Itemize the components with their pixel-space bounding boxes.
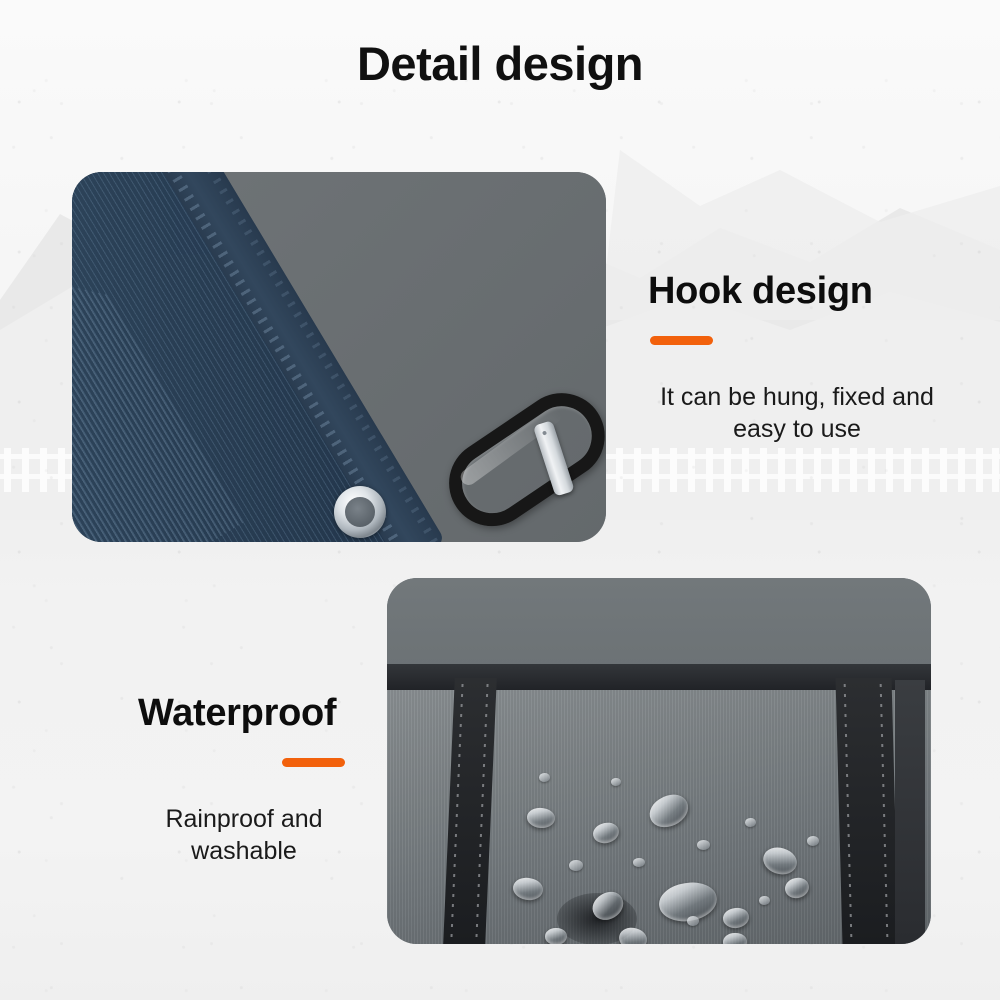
waterproof-description: Rainproof and washable: [138, 803, 350, 867]
water-droplet-small: [569, 860, 583, 871]
metal-grommet-icon: [334, 486, 386, 538]
hook-design-photo: [72, 172, 606, 542]
waterproof-image-card[interactable]: [387, 578, 931, 944]
hook-design-description: It can be hung, fixed and easy to use: [646, 381, 948, 445]
waterproof-heading: Waterproof: [138, 692, 350, 736]
water-droplet-small: [759, 896, 770, 905]
hook-design-text-block: Hook design It can be hung, fixed and ea…: [648, 270, 948, 445]
hook-design-image-card[interactable]: [72, 172, 606, 542]
water-droplet-small: [697, 840, 710, 850]
fabric-binding-right-outer: [895, 680, 925, 944]
waterproof-photo: [387, 578, 931, 944]
water-droplet-small: [687, 916, 699, 926]
accent-divider-hook: [650, 336, 713, 345]
fabric-binding-right: [836, 678, 899, 944]
stitch-line: [450, 684, 463, 944]
product-detail-page: Detail design Hook design It can be hung…: [0, 0, 1000, 1000]
accent-divider-waterproof: [282, 758, 345, 767]
water-droplet-small: [633, 858, 645, 867]
water-droplet-small: [539, 773, 550, 782]
page-title: Detail design: [0, 38, 1000, 90]
stitch-line: [475, 684, 488, 944]
stitch-line: [880, 684, 889, 944]
waterproof-text-block: Waterproof Rainproof and washable: [138, 692, 350, 867]
water-droplet: [545, 928, 567, 944]
hook-design-heading: Hook design: [648, 270, 948, 314]
photo-backdrop: [387, 578, 931, 670]
stitch-line: [844, 684, 853, 944]
water-droplet-small: [611, 778, 621, 786]
water-droplet-small: [807, 836, 819, 846]
water-droplet: [723, 933, 747, 944]
water-droplet-small: [745, 818, 756, 827]
